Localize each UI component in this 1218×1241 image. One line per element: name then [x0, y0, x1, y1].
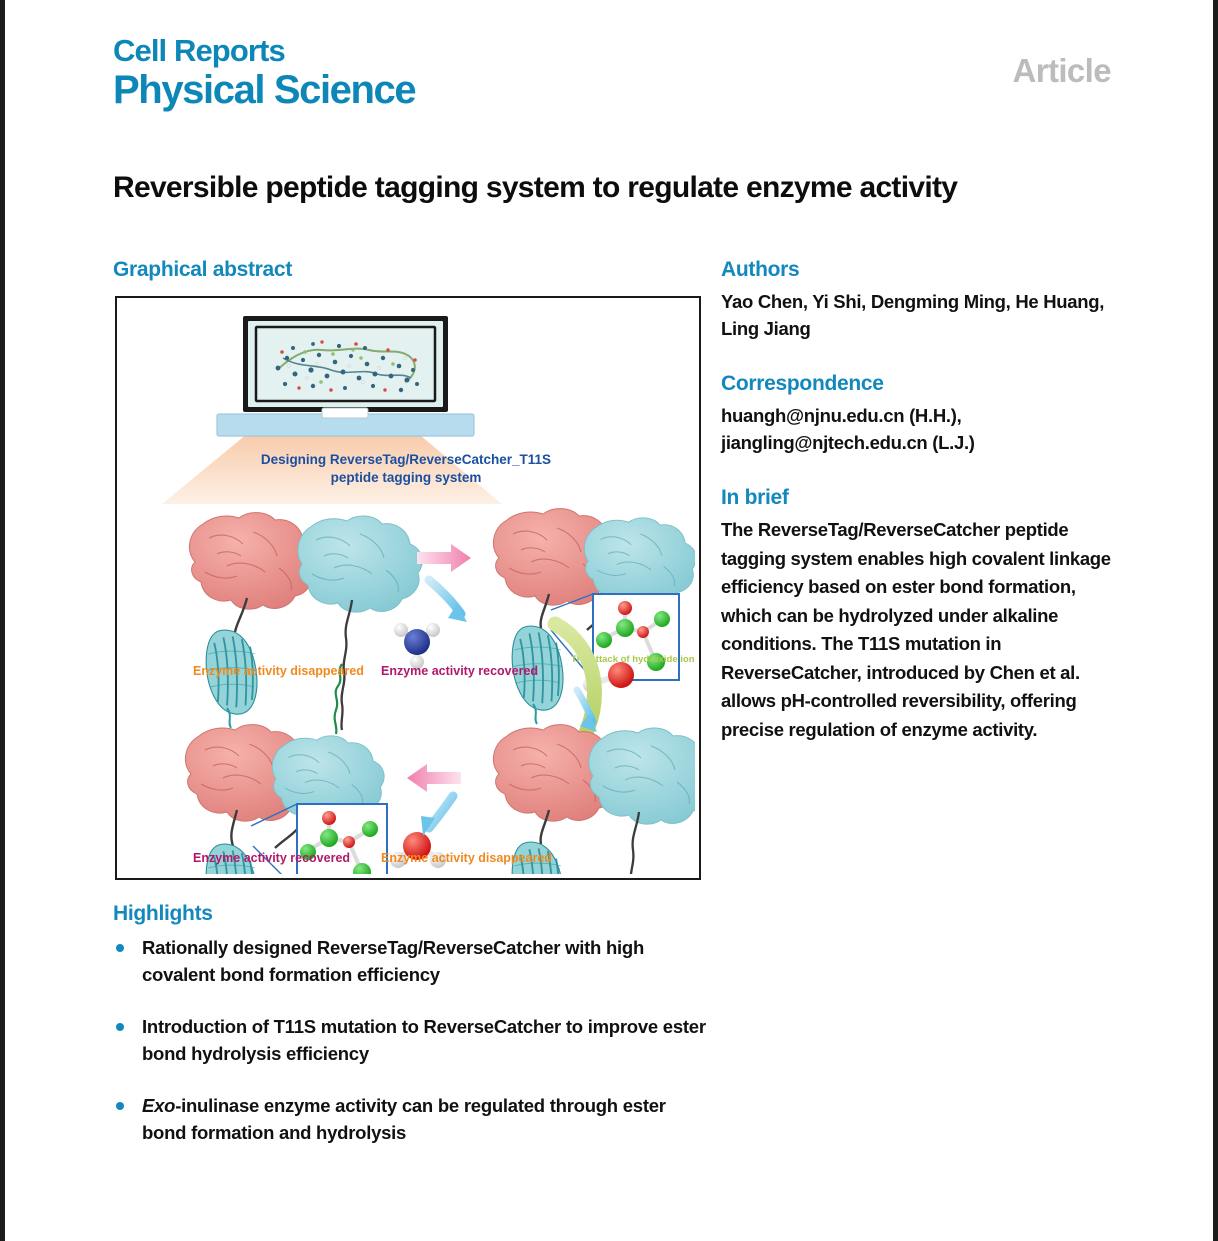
bullet-icon — [116, 1023, 124, 1031]
in-brief-text: The ReverseTag/ReverseCatcher peptide ta… — [721, 516, 1111, 744]
highlight-item-1: Rationally designed ReverseTag/ReverseCa… — [113, 934, 713, 988]
arrow-pink-bottom — [407, 764, 461, 792]
graphical-abstract-figure: Designing ReverseTag/ReverseCatcher_T11S… — [115, 296, 701, 880]
arrow-blue-bottom — [421, 796, 453, 836]
highlight-item-2: Introduction of T11S mutation to Reverse… — [113, 1013, 713, 1067]
arrow-pink-top — [417, 544, 471, 572]
correspondence-heading: Correspondence — [721, 372, 1111, 396]
highlight-text: Rationally designed ReverseTag/ReverseCa… — [142, 937, 644, 985]
highlight-text: -inulinase enzyme activity can be regula… — [142, 1095, 666, 1143]
journal-name-line2: Physical Science — [113, 69, 1113, 112]
protein-cyan-bottom-right — [589, 728, 695, 874]
graphical-abstract-heading: Graphical abstract — [113, 258, 292, 282]
highlight-italic-prefix: Exo — [142, 1095, 175, 1116]
journal-name-line1: Cell Reports — [113, 34, 1113, 68]
article-metadata-column: Authors Yao Chen, Yi Shi, Dengming Ming,… — [721, 258, 1111, 744]
protein-salmon-top-left — [189, 513, 315, 728]
label-enzyme-recovered-top: Enzyme activity recovered — [381, 664, 538, 678]
bullet-icon — [116, 1102, 124, 1110]
authors-heading: Authors — [721, 258, 1111, 282]
arrow-blue-top — [429, 580, 467, 622]
correspondence-emails[interactable]: huangh@njnu.edu.cn (H.H.), jiangling@njt… — [721, 402, 1111, 456]
label-enzyme-disappeared-top: Enzyme activity disappeared — [193, 664, 364, 678]
page-title: Reversible peptide tagging system to reg… — [113, 168, 1013, 208]
authors-list: Yao Chen, Yi Shi, Dengming Ming, He Huan… — [721, 288, 1111, 342]
highlights-list: Rationally designed ReverseTag/ReverseCa… — [113, 934, 713, 1171]
label-enzyme-disappeared-bottom: Enzyme activity disappeared — [381, 851, 552, 865]
article-type-label: Article — [1012, 52, 1111, 90]
in-brief-heading: In brief — [721, 486, 1111, 510]
ammonia-molecule — [394, 623, 440, 669]
highlight-item-3: Exo-inulinase enzyme activity can be reg… — [113, 1092, 713, 1146]
journal-masthead: Cell Reports Physical Science — [113, 34, 1113, 112]
figure-caption-line2: peptide tagging system — [331, 470, 482, 485]
highlight-text: Introduction of T11S mutation to Reverse… — [142, 1016, 706, 1064]
right-gutter-band — [1213, 0, 1218, 1241]
label-enzyme-recovered-bottom: Enzyme activity recovered — [193, 851, 350, 865]
graphical-abstract-svg: Designing ReverseTag/ReverseCatcher_T11S… — [117, 298, 695, 874]
highlights-heading: Highlights — [113, 902, 213, 926]
article-page: Cell Reports Physical Science Article Re… — [5, 0, 1213, 1241]
figure-caption-line1: Designing ReverseTag/ReverseCatcher_T11S — [261, 452, 551, 467]
bullet-icon — [116, 944, 124, 952]
